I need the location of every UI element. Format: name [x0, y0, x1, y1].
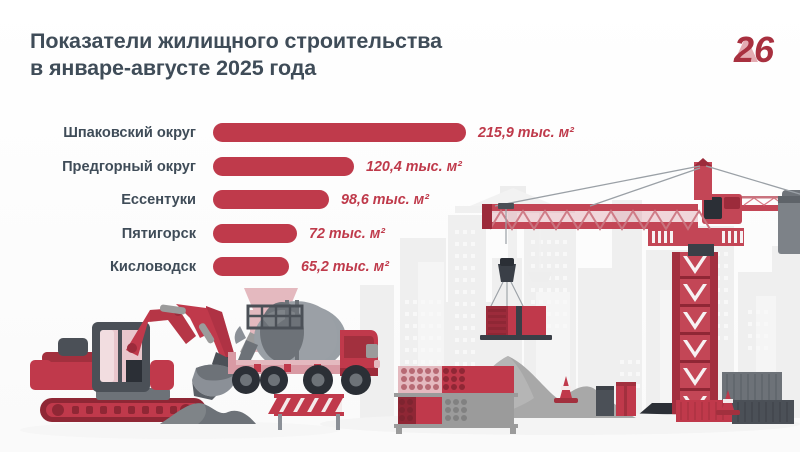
housing-construction-bar-chart: Шпаковский округ 215,9 тыс. м² Предгорны… — [0, 120, 620, 288]
bar-track — [213, 157, 354, 176]
chart-row: Предгорный округ 120,4 тыс. м² — [0, 154, 620, 188]
chart-row: Шпаковский округ 215,9 тыс. м² — [0, 120, 620, 154]
chart-category-label: Пятигорск — [0, 225, 196, 243]
chart-row: Ессентуки 98,6 тыс. м² — [0, 187, 620, 221]
chart-category-label: Шпаковский округ — [0, 124, 196, 142]
chart-category-label: Предгорный округ — [0, 158, 196, 176]
chart-row: Пятигорск 72 тыс. м² — [0, 221, 620, 255]
logo-text: 26 — [733, 29, 775, 70]
bar-track — [213, 257, 289, 276]
bar-track — [213, 123, 466, 142]
chart-row: Кисловодск 65,2 тыс. м² — [0, 254, 620, 288]
chart-value-label: 98,6 тыс. м² — [341, 191, 429, 209]
page-title-line-1: Показатели жилищного строительства — [30, 28, 630, 55]
chart-value-label: 120,4 тыс. м² — [366, 158, 462, 176]
bar-track — [213, 224, 297, 243]
chart-category-label: Кисловодск — [0, 258, 196, 276]
page-title: Показатели жилищного строительства в янв… — [30, 28, 630, 82]
chart-bar — [213, 224, 297, 243]
chart-value-label: 215,9 тыс. м² — [478, 124, 574, 142]
chart-category-label: Ессентуки — [0, 191, 196, 209]
chart-bar — [213, 257, 289, 276]
chart-bar — [213, 123, 466, 142]
infographic-canvas: Показатели жилищного строительства в янв… — [0, 0, 800, 452]
chart-value-label: 72 тыс. м² — [309, 225, 385, 243]
chart-value-label: 65,2 тыс. м² — [301, 258, 389, 276]
logo-26: 26 — [724, 22, 782, 74]
page-title-line-2: в январе-августе 2025 года — [30, 55, 630, 82]
chart-bar — [213, 157, 354, 176]
bar-track — [213, 190, 329, 209]
chart-bar — [213, 190, 329, 209]
